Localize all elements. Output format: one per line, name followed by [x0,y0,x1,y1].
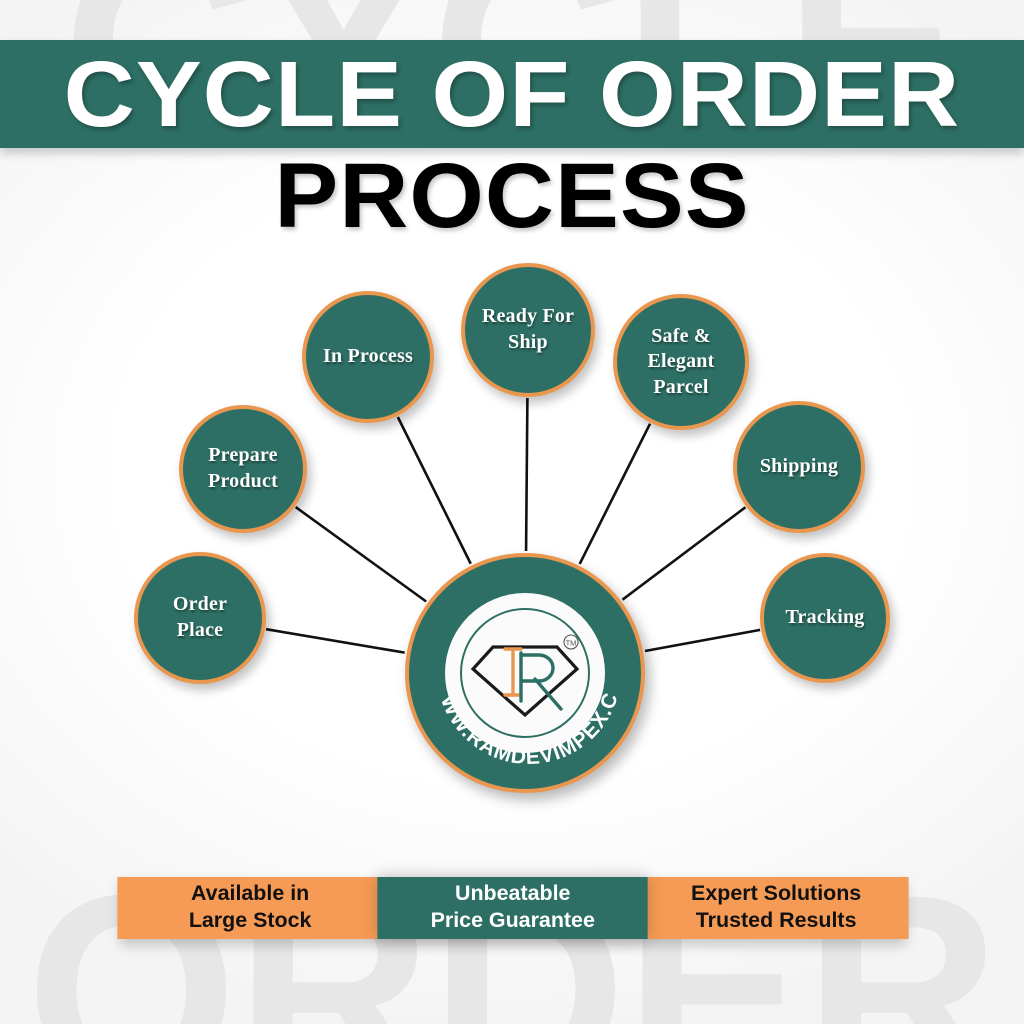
process-node[interactable]: Ready For Ship [461,263,595,397]
process-node-label: Order Place [138,592,262,643]
banner-cell-price[interactable]: Unbeatable Price Guarantee [378,877,649,939]
center-logo-hub[interactable]: WWW.RAMDEVIMPEX.CO TM [405,553,645,793]
process-node[interactable]: Safe & Elegant Parcel [613,294,749,430]
process-node-label: Ready For Ship [465,304,591,355]
banner-line-1: Expert Solutions [691,881,861,908]
process-node-label: Prepare Product [183,443,303,494]
banner-cell-stock[interactable]: Available in Large Stock [117,877,382,939]
letter-i-icon [505,649,521,695]
process-node-label: Tracking [775,605,874,631]
svg-text:TM: TM [566,639,577,648]
banner-line-1: Unbeatable [455,881,570,908]
banner-line-2: Price Guarantee [431,908,595,935]
process-node[interactable]: Tracking [760,553,890,683]
banner-line-1: Available in [191,881,309,908]
process-node-label: Safe & Elegant Parcel [617,324,745,401]
banner-cell-solutions[interactable]: Expert Solutions Trusted Results [643,877,908,939]
process-node[interactable]: Shipping [733,401,865,533]
feature-banner: Available in Large Stock Unbeatable Pric… [120,877,906,939]
banner-line-2: Large Stock [189,908,312,935]
process-node[interactable]: In Process [302,291,434,423]
trademark-icon: TM [564,635,578,649]
process-node-label: In Process [313,344,423,370]
logo-diamond-mark: TM [465,625,585,721]
banner-line-2: Trusted Results [696,908,857,935]
process-node[interactable]: Order Place [134,552,266,684]
infographic-canvas: CYCLE ORDER CYCLE OF ORDER PROCESS Order… [0,0,1024,1024]
process-node[interactable]: Prepare Product [179,405,307,533]
connector-lines [0,0,1024,1024]
process-node-label: Shipping [750,454,848,480]
